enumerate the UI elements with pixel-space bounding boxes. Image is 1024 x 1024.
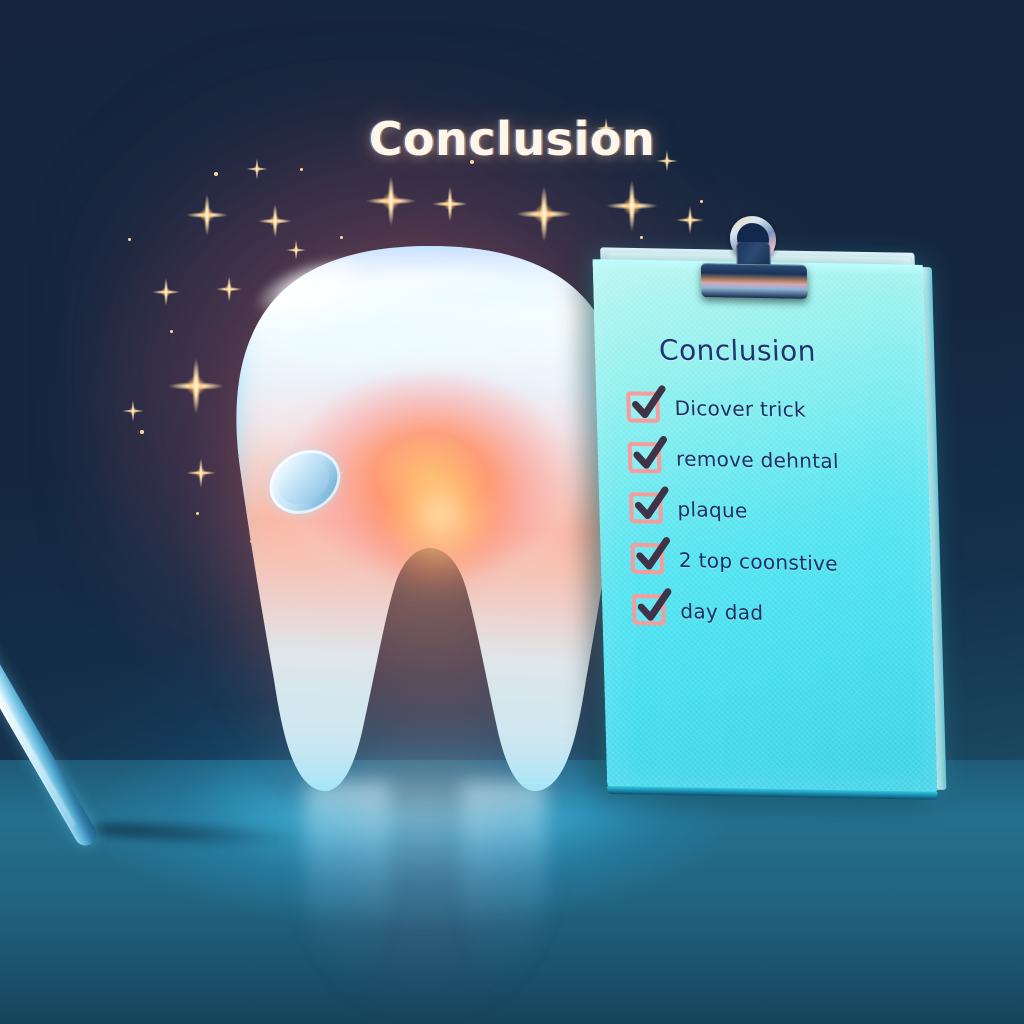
tooth-inner-glow bbox=[340, 420, 540, 610]
list-item-label: Dicover trick bbox=[674, 396, 806, 422]
checkbox-checked[interactable] bbox=[629, 492, 663, 524]
clipboard: Conclusion Dicover trick bbox=[592, 259, 937, 793]
dental-conclusion-illustration: Conclusion Dicover trick bbox=[0, 0, 1024, 1024]
checklist-heading: Conclusion bbox=[658, 334, 907, 369]
glowing-tooth bbox=[230, 240, 630, 800]
page-title: Conclusion bbox=[0, 112, 1024, 166]
checklist: Conclusion Dicover trick bbox=[625, 332, 916, 651]
checkbox-checked[interactable] bbox=[626, 391, 660, 422]
list-item[interactable]: day dad bbox=[632, 594, 915, 631]
list-item-label: 2 top coonstive bbox=[679, 547, 838, 575]
check-icon bbox=[632, 486, 671, 525]
checkbox-checked[interactable] bbox=[632, 594, 666, 626]
list-item[interactable]: 2 top coonstive bbox=[631, 543, 914, 581]
clipboard-page: Conclusion Dicover trick bbox=[592, 259, 937, 793]
check-icon bbox=[635, 588, 674, 627]
checkbox-checked[interactable] bbox=[631, 543, 665, 575]
check-icon bbox=[630, 436, 669, 475]
clipboard-clip bbox=[699, 215, 807, 303]
list-item-label: day dad bbox=[680, 598, 764, 624]
check-icon bbox=[629, 385, 668, 423]
list-item-label: plaque bbox=[677, 497, 748, 522]
list-item[interactable]: Dicover trick bbox=[626, 391, 909, 425]
list-item[interactable]: plaque bbox=[629, 492, 912, 529]
list-item-label: remove dehntal bbox=[676, 446, 839, 473]
check-icon bbox=[633, 537, 672, 576]
list-item[interactable]: remove dehntal bbox=[628, 442, 911, 477]
checkbox-checked[interactable] bbox=[628, 442, 662, 474]
clip-bar bbox=[701, 263, 808, 299]
